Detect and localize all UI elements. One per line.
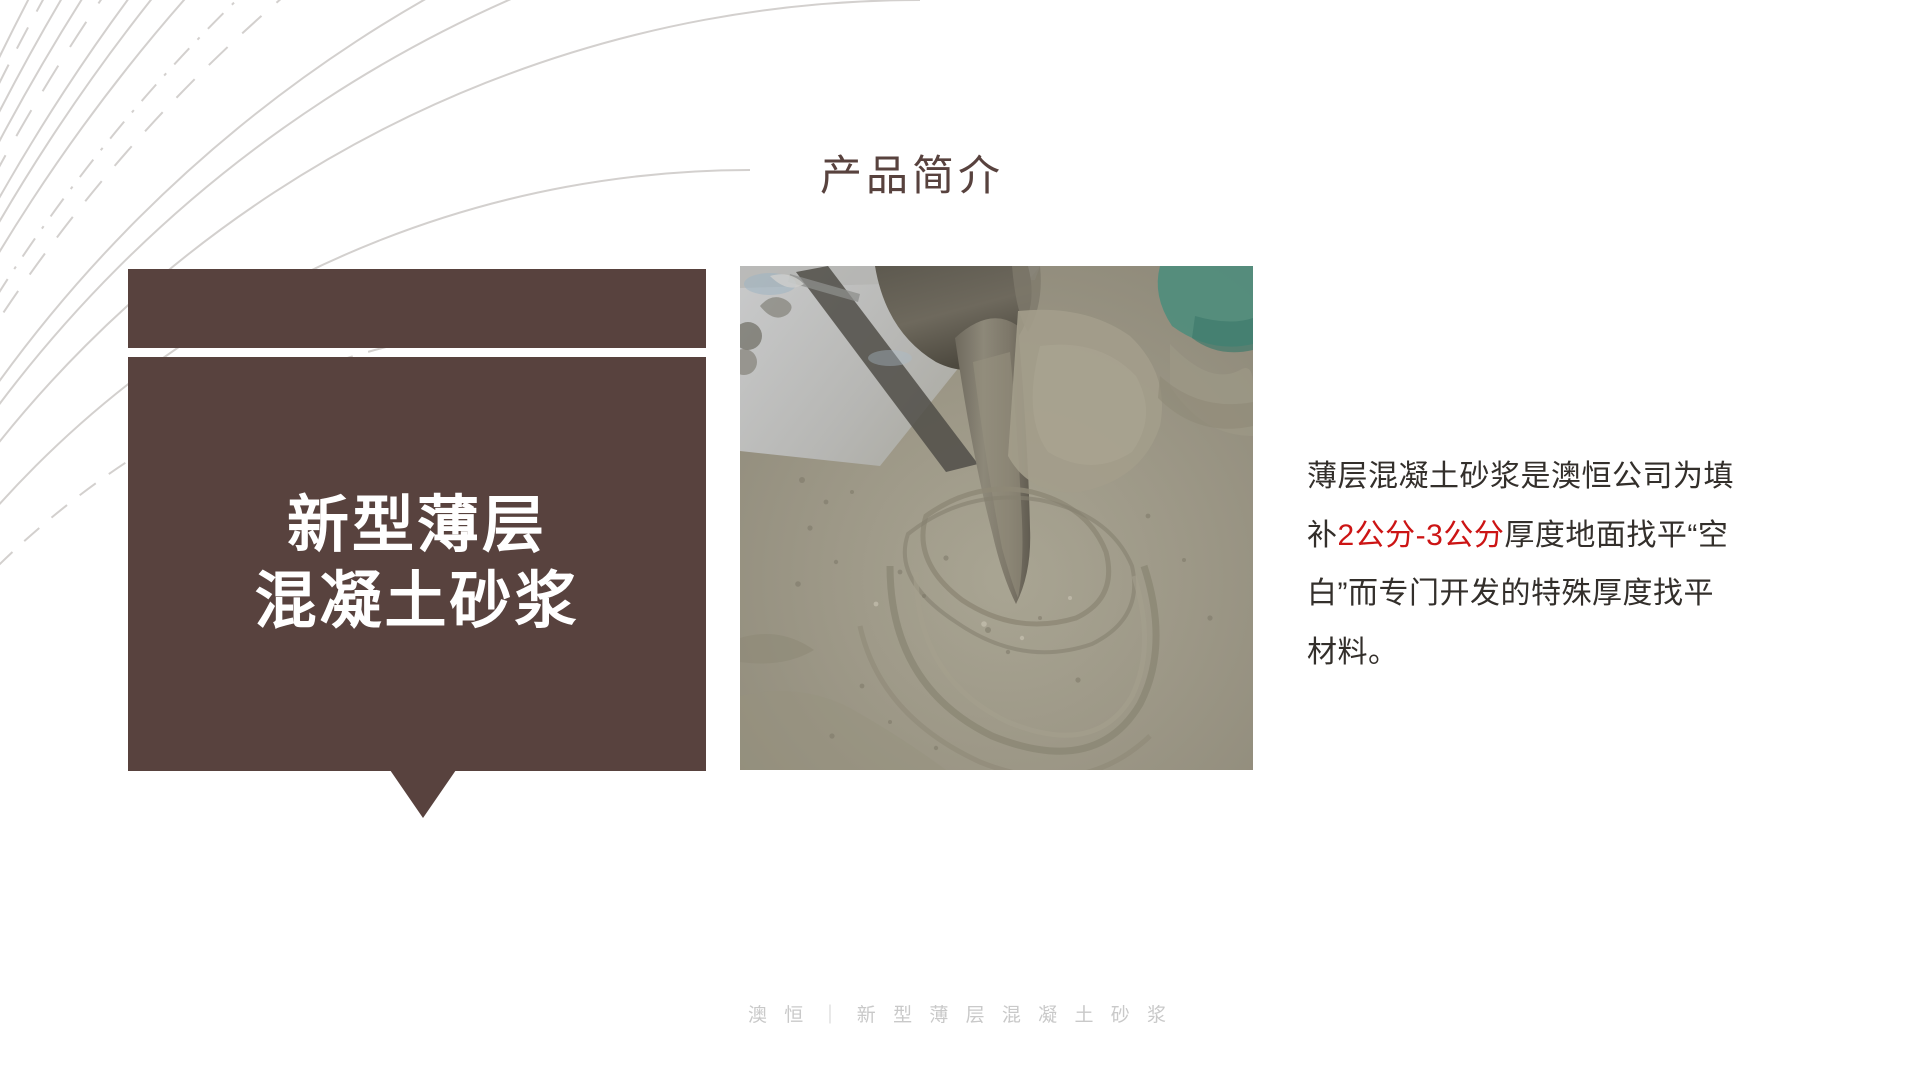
slide-canvas: 产品简介 新型薄层 混凝土砂浆 — [0, 0, 1920, 1080]
callout-tail-triangle — [390, 770, 456, 818]
description-highlight: 2公分-3公分 — [1338, 519, 1505, 552]
callout-headline: 新型薄层 混凝土砂浆 — [128, 357, 706, 771]
page-title: 产品简介 — [820, 142, 1004, 203]
callout-top-bar — [128, 269, 706, 348]
slide-footer: 澳 恒 ｜ 新 型 薄 层 混 凝 土 砂 浆 — [0, 1000, 1920, 1027]
headline-line-2: 混凝土砂浆 — [254, 564, 579, 640]
product-photo — [740, 266, 1253, 770]
headline-line-1: 新型薄层 — [287, 488, 547, 564]
description-paragraph: 薄层混凝土砂浆是澳恒公司为填补2公分-3公分厚度地面找平“空白”而专门开发的特殊… — [1307, 448, 1737, 682]
